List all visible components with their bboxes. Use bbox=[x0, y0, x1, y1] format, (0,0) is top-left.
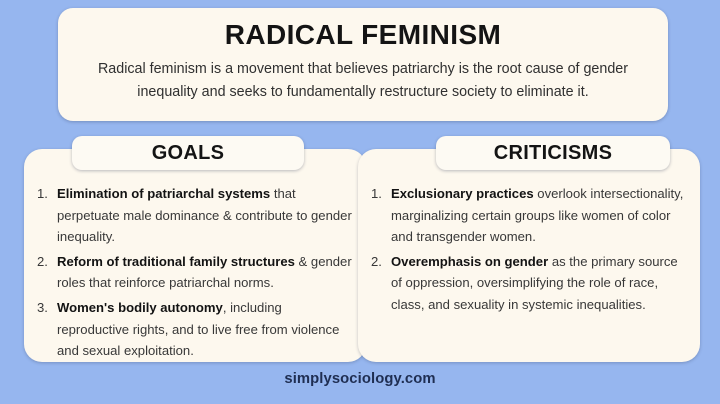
infographic-radical-feminism: RADICAL FEMINISM Radical feminism is a m… bbox=[0, 0, 720, 404]
list-item: Overemphasis on gender as the primary so… bbox=[371, 251, 688, 316]
list-item: Reform of traditional family structures … bbox=[37, 251, 354, 294]
list-item: Exclusionary practices overlook intersec… bbox=[371, 183, 688, 248]
criticisms-list: Exclusionary practices overlook intersec… bbox=[358, 149, 700, 316]
criticisms-badge-label: CRITICISMS bbox=[494, 143, 613, 163]
goal-term: Reform of traditional family structures bbox=[57, 254, 295, 269]
criticisms-badge: CRITICISMS bbox=[436, 136, 670, 170]
page-title: RADICAL FEMINISM bbox=[74, 17, 652, 53]
criticism-term: Overemphasis on gender bbox=[391, 254, 548, 269]
list-item: Women's bodily autonomy, including repro… bbox=[37, 297, 354, 362]
source-attribution: simplysociology.com bbox=[0, 371, 720, 387]
goal-term: Elimination of patriarchal systems bbox=[57, 186, 270, 201]
goals-card: Elimination of patriarchal systems that … bbox=[24, 149, 366, 362]
goals-badge-label: GOALS bbox=[152, 143, 225, 163]
criticism-term: Exclusionary practices bbox=[391, 186, 534, 201]
header-description: Radical feminism is a movement that beli… bbox=[80, 58, 646, 104]
goals-badge: GOALS bbox=[72, 136, 304, 170]
header-card: RADICAL FEMINISM Radical feminism is a m… bbox=[58, 8, 668, 121]
list-item: Elimination of patriarchal systems that … bbox=[37, 183, 354, 248]
goals-list: Elimination of patriarchal systems that … bbox=[24, 149, 366, 362]
goal-term: Women's bodily autonomy bbox=[57, 300, 223, 315]
criticisms-card: Exclusionary practices overlook intersec… bbox=[358, 149, 700, 362]
